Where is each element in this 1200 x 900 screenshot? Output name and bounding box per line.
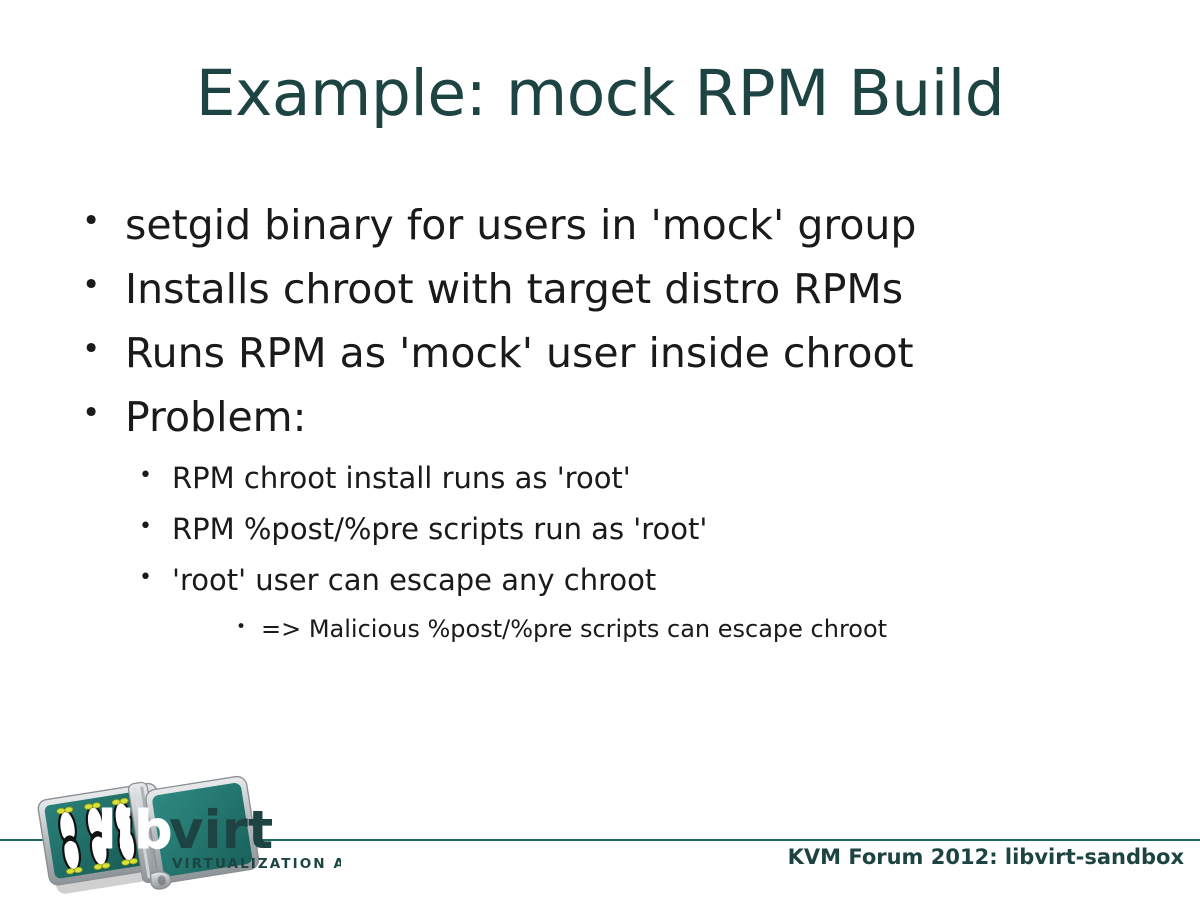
bullet-dot-icon: • — [82, 398, 125, 429]
list-item: • Installs chroot with target distro RPM… — [0, 269, 1200, 310]
logo-wordmark-lib: lib — [98, 800, 172, 861]
list-item: • RPM chroot install runs as 'root' — [0, 464, 1200, 493]
list-item-label: 'root' user can escape any chroot — [172, 566, 656, 595]
bullet-dot-icon: • — [139, 465, 172, 487]
page-title: Example: mock RPM Build — [0, 62, 1200, 125]
bullet-dot-icon: • — [82, 334, 125, 365]
list-item-label: setgid binary for users in 'mock' group — [125, 205, 916, 246]
list-item: • Problem: — [0, 397, 1200, 438]
list-item-label: Problem: — [125, 397, 306, 438]
bullet-dot-icon: • — [236, 619, 261, 636]
list-item-label: RPM chroot install runs as 'root' — [172, 464, 631, 493]
list-item: • setgid binary for users in 'mock' grou… — [0, 205, 1200, 246]
bullet-dot-icon: • — [139, 516, 172, 538]
logo-tagline: VIRTUALIZATION API — [172, 856, 341, 872]
libvirt-logo: lib virt VIRTUALIZATION API — [36, 772, 341, 894]
list-item: • 'root' user can escape any chroot — [0, 566, 1200, 595]
list-item-label: RPM %post/%pre scripts run as 'root' — [172, 515, 707, 544]
slide-body: • setgid binary for users in 'mock' grou… — [0, 205, 1200, 641]
bullet-dot-icon: • — [82, 270, 125, 301]
slide-canvas: Example: mock RPM Build • setgid binary … — [0, 0, 1200, 900]
list-item: • Runs RPM as 'mock' user inside chroot — [0, 333, 1200, 374]
list-item-label: Runs RPM as 'mock' user inside chroot — [125, 333, 914, 374]
list-item-label: Installs chroot with target distro RPMs — [125, 269, 903, 310]
footer-label: KVM Forum 2012: libvirt-sandbox — [788, 845, 1184, 869]
bullet-dot-icon: • — [82, 206, 125, 237]
list-item: • => Malicious %post/%pre scripts can es… — [0, 617, 1200, 641]
logo-wordmark-virt: virt — [169, 800, 273, 861]
list-item-label: => Malicious %post/%pre scripts can esca… — [261, 617, 887, 641]
bullet-dot-icon: • — [139, 567, 172, 589]
list-item: • RPM %post/%pre scripts run as 'root' — [0, 515, 1200, 544]
